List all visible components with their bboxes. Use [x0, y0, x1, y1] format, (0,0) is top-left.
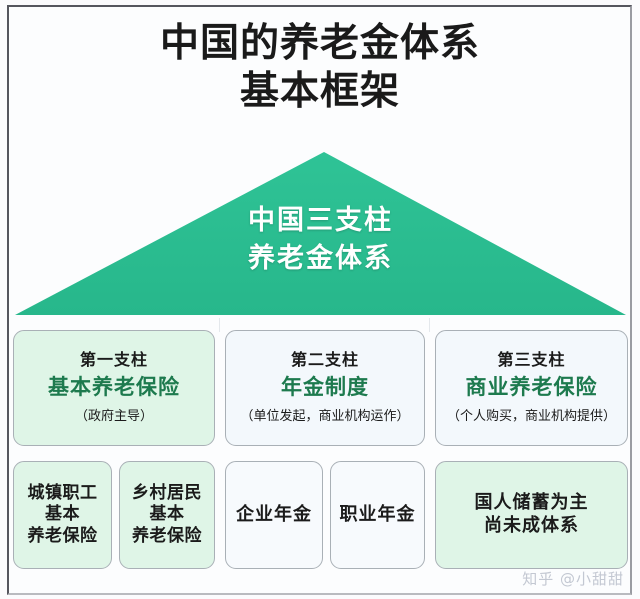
leaf-card-1[interactable]: 城镇职工 基本 养老保险 [13, 461, 112, 569]
leaf-2-label: 乡村居民 基本 养老保险 [132, 483, 202, 547]
leaf-card-2[interactable]: 乡村居民 基本 养老保险 [119, 461, 215, 569]
leaf-card-3[interactable]: 企业年金 [225, 461, 323, 569]
leaf-5-line-1: 国人储蓄为主 [475, 492, 589, 513]
pillar-3-note: （个人购买，商业机构提供） [447, 409, 616, 426]
leaf-1-label: 城镇职工 基本 养老保险 [28, 483, 98, 547]
leaf-1-line-1: 城镇职工 [28, 483, 98, 503]
pillar-1-name: 基本养老保险 [48, 373, 180, 401]
leaf-1-line-3: 养老保险 [28, 526, 98, 546]
leaf-1-line-2: 基本 [45, 504, 80, 524]
leaf-5-label: 国人储蓄为主 尚未成体系 [475, 492, 589, 537]
leaf-4-label: 职业年金 [340, 504, 416, 527]
pension-framework-infographic: 中国的养老金体系 基本框架 中国三支柱 养老金体系 第一支柱 基本养老保险 （政… [0, 0, 640, 599]
leaf-card-5[interactable]: 国人储蓄为主 尚未成体系 [435, 461, 628, 569]
page-title: 中国的养老金体系 基本框架 [0, 20, 640, 115]
page-title-line-2: 基本框架 [0, 68, 640, 116]
pillar-2-kicker: 第二支柱 [291, 350, 359, 370]
roof-triangle: 中国三支柱 养老金体系 [13, 150, 628, 318]
leaf-row: 城镇职工 基本 养老保险 乡村居民 基本 养老保险 企业年金 职业年金 国人储蓄… [0, 461, 640, 569]
pillar-2-name: 年金制度 [281, 373, 369, 401]
watermark: 知乎 @小甜甜 [522, 568, 624, 589]
leaf-3-label: 企业年金 [236, 504, 312, 527]
pillar-row: 第一支柱 基本养老保险 （政府主导） 第二支柱 年金制度 （单位发起，商业机构运… [0, 330, 640, 446]
page-title-line-1: 中国的养老金体系 [0, 20, 640, 68]
leaf-2-line-2: 基本 [150, 504, 185, 524]
pillar-1-note: （政府主导） [75, 409, 153, 426]
pillar-3-name: 商业养老保险 [466, 373, 598, 401]
leaf-5-line-2: 尚未成体系 [484, 515, 579, 536]
pillar-3-kicker: 第三支柱 [497, 350, 565, 370]
pillar-card-3[interactable]: 第三支柱 商业养老保险 （个人购买，商业机构提供） [435, 330, 628, 446]
pillar-card-2[interactable]: 第二支柱 年金制度 （单位发起，商业机构运作） [225, 330, 425, 446]
pillar-1-kicker: 第一支柱 [80, 350, 148, 370]
pillar-2-note: （单位发起，商业机构运作） [240, 409, 409, 426]
leaf-2-line-1: 乡村居民 [132, 483, 202, 503]
leaf-2-line-3: 养老保险 [132, 526, 202, 546]
roof-triangle-shape [13, 150, 628, 318]
leaf-card-4[interactable]: 职业年金 [330, 461, 425, 569]
pillar-card-1[interactable]: 第一支柱 基本养老保险 （政府主导） [13, 330, 215, 446]
